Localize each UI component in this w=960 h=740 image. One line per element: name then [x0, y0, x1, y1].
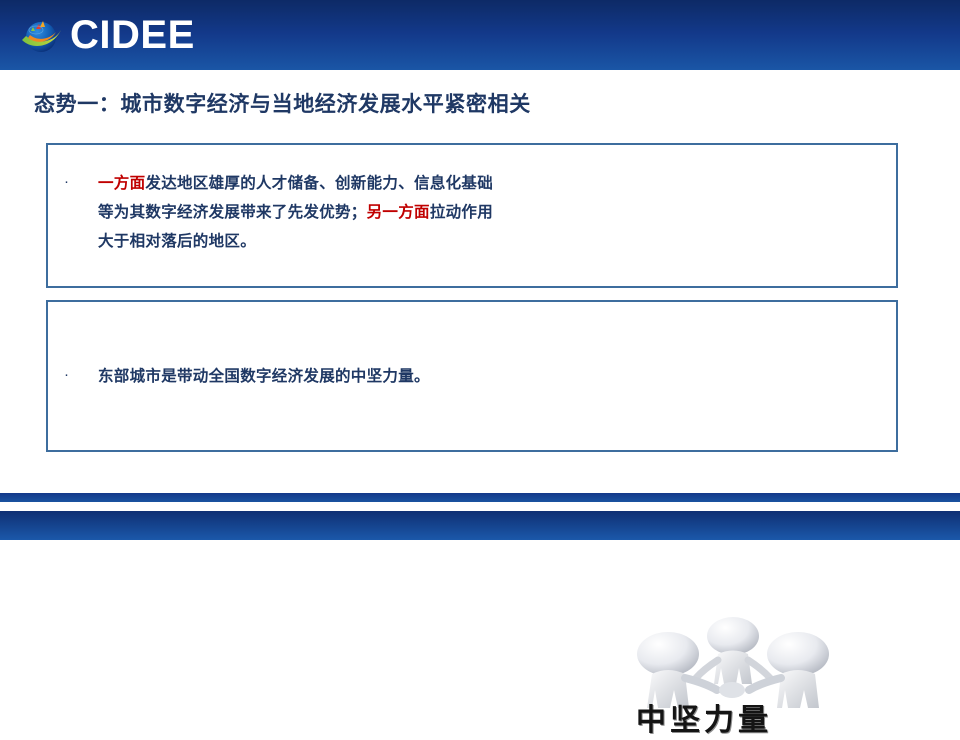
page-title: 态势一：城市数字经济与当地经济发展水平紧密相关	[34, 88, 531, 118]
footer-thin-bar	[0, 493, 960, 502]
bullet-marker-icon: ·	[64, 362, 78, 388]
mainstay-force-caption: 中坚力量	[636, 702, 816, 740]
bullet-one-line1-rest: 发达地区雄厚的人才储备、创新能力、	[145, 175, 414, 192]
highlight-first-aspect: 一方面	[98, 175, 145, 192]
bullet-marker-icon: ·	[64, 169, 78, 195]
highlight-second-aspect: 另一方面	[367, 204, 430, 221]
header-band: CIDEE	[0, 0, 960, 70]
bullet-item-one: · 一方面发达地区雄厚的人才储备、创新能力、信息化基础等为其数字经济发展带来了先…	[64, 169, 508, 256]
footer-thick-bar	[0, 511, 960, 540]
bullet-two-text: 东部城市是带动全国数字经济发展的中坚力量。	[98, 362, 430, 391]
brand-logo[interactable]: CIDEE	[18, 12, 218, 60]
content-box-one: · 一方面发达地区雄厚的人才储备、创新能力、信息化基础等为其数字经济发展带来了先…	[46, 143, 898, 288]
bullet-item-two: · 东部城市是带动全国数字经济发展的中坚力量。	[64, 362, 430, 391]
bullet-one-text: 一方面发达地区雄厚的人才储备、创新能力、信息化基础等为其数字经济发展带来了先发优…	[98, 169, 508, 256]
content-box-two: · 东部城市是带动全国数字经济发展的中坚力量。	[46, 300, 898, 452]
cidee-globe-swoosh-logo-icon	[18, 14, 64, 58]
brand-name: CIDEE	[70, 11, 195, 59]
three-3d-figures-teamwork-icon	[618, 614, 848, 714]
